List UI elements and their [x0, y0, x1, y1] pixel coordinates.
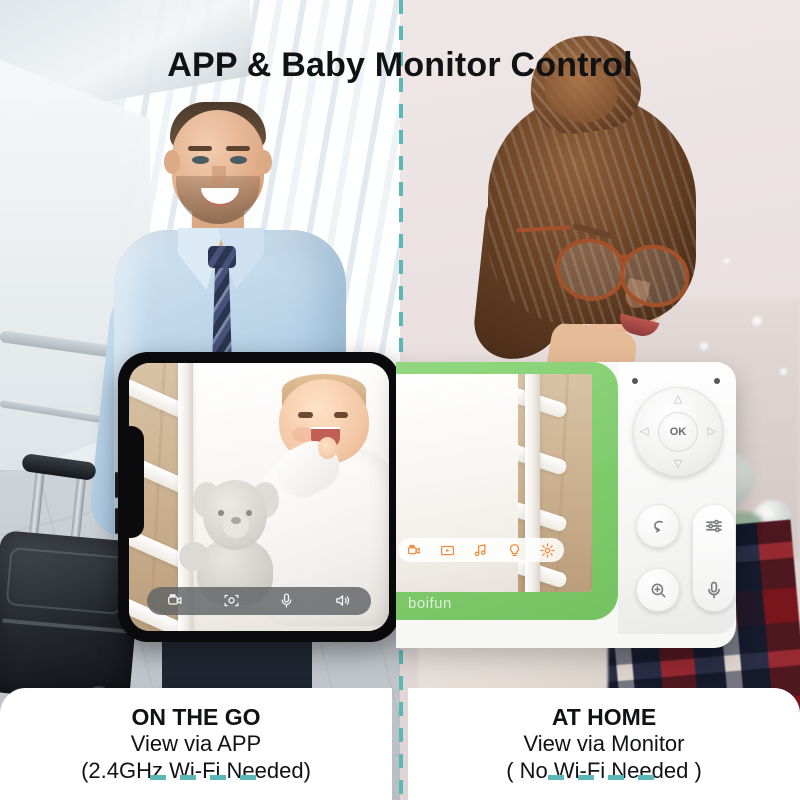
caption-title-left: ON THE GO	[131, 704, 260, 731]
playback-icon[interactable]	[440, 543, 455, 558]
snapshot-camera-icon[interactable]	[223, 592, 240, 609]
baby-eye-right	[334, 412, 349, 418]
page-title: APP & Baby Monitor Control	[0, 46, 800, 85]
monitor-toolbar[interactable]	[398, 538, 564, 562]
video-record-icon[interactable]	[167, 592, 184, 609]
caption-line2-right: View via Monitor	[524, 731, 685, 758]
monitor-crib-view	[396, 374, 592, 592]
man-necktie-knot	[208, 246, 236, 268]
man-eyebrow-left	[188, 146, 212, 151]
monitor-brand-label: boifun	[408, 595, 452, 612]
caption-dash-underline-left	[150, 775, 270, 780]
man-eye-right	[230, 156, 247, 164]
phone-screen[interactable]	[129, 363, 389, 631]
phone-crib-view	[129, 363, 389, 631]
monitor-green-bezel: boifun	[396, 362, 618, 620]
man-eye-left	[192, 156, 209, 164]
caption-line3-left: (2.4GHz Wi-Fi Needed)	[81, 758, 311, 785]
sensor-dot-right	[714, 378, 720, 384]
zoom-button[interactable]	[636, 568, 680, 612]
baby-monitor-device[interactable]: boifun △ ▽ ◁ ▷ OK	[396, 362, 736, 648]
zoom-in-icon	[649, 581, 668, 600]
app-toolbar[interactable]	[147, 587, 371, 615]
dpad-right-arrow-icon[interactable]: ▷	[708, 427, 716, 438]
baby-eye-left	[298, 412, 313, 418]
man-ear-right	[256, 150, 272, 174]
phone-notch	[118, 426, 144, 538]
microphone-icon[interactable]	[704, 580, 724, 600]
dpad-control[interactable]: △ ▽ ◁ ▷ OK	[633, 387, 723, 477]
man-nose	[212, 166, 226, 186]
settings-gear-icon[interactable]	[540, 543, 555, 558]
speaker-volume-icon[interactable]	[334, 592, 351, 609]
adjust-talk-button[interactable]	[692, 504, 736, 612]
teddy-bear	[185, 480, 285, 601]
caption-dash-underline-right	[548, 775, 668, 780]
caption-card-at-home: AT HOME View via Monitor ( No Wi-Fi Need…	[408, 688, 800, 800]
man-eyebrow-right	[226, 146, 250, 151]
promo-banner: APP & Baby Monitor Control	[0, 0, 800, 800]
settings-sliders-icon[interactable]	[704, 516, 724, 536]
caption-line3-right: ( No Wi-Fi Needed )	[506, 758, 702, 785]
sensor-dot-left	[632, 378, 638, 384]
back-arrow-icon	[649, 517, 668, 536]
ok-button[interactable]: OK	[658, 412, 698, 452]
night-light-icon[interactable]	[507, 543, 522, 558]
camera-icon[interactable]	[407, 543, 422, 558]
monitor-screen[interactable]	[396, 374, 592, 592]
back-button[interactable]	[636, 504, 680, 548]
eyeglasses-lens-right	[614, 239, 695, 313]
caption-card-on-the-go: ON THE GO View via APP (2.4GHz Wi-Fi Nee…	[0, 688, 392, 800]
baby-hand	[318, 437, 337, 460]
dpad-left-arrow-icon[interactable]: ◁	[640, 427, 648, 438]
dpad-down-arrow-icon[interactable]: ▽	[674, 459, 682, 470]
monitor-control-panel[interactable]: △ ▽ ◁ ▷ OK	[618, 362, 736, 634]
smartphone-device[interactable]	[118, 352, 400, 642]
microphone-icon[interactable]	[278, 592, 295, 609]
eyeglasses-bridge	[617, 254, 631, 259]
lullaby-music-icon[interactable]	[473, 543, 488, 558]
dpad-up-arrow-icon[interactable]: △	[674, 394, 682, 405]
caption-title-right: AT HOME	[552, 704, 656, 731]
man-ear-left	[164, 150, 180, 174]
caption-line2-left: View via APP	[131, 731, 261, 758]
suitcase-front-pocket	[6, 547, 127, 615]
